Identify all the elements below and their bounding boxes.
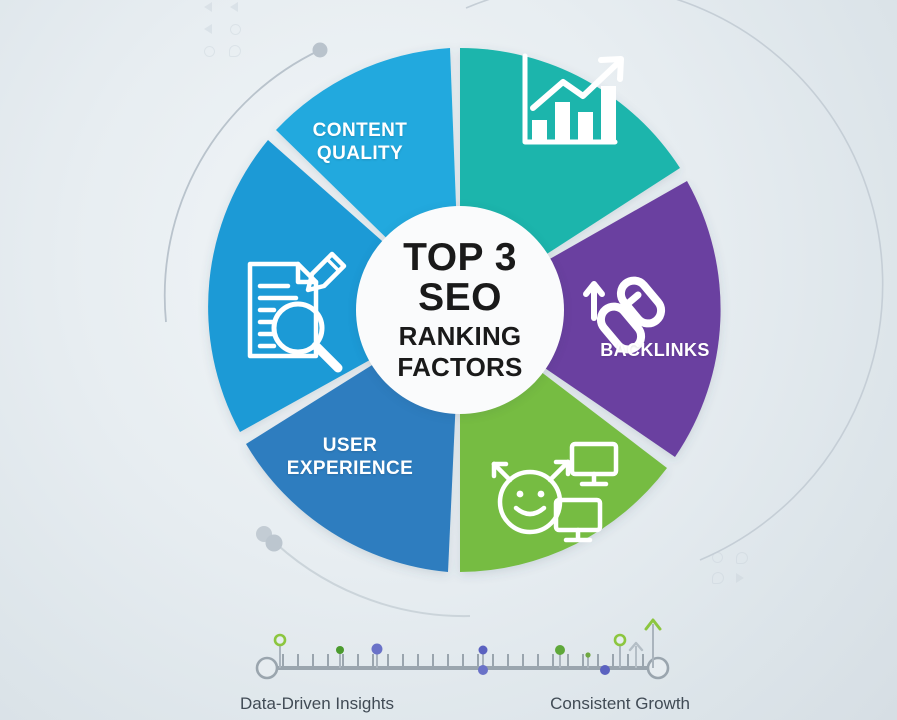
infographic-canvas: TOP 3 SEO RANKING FACTORS CONTENT QUALIT…: [0, 0, 897, 720]
footer-captions: Data-Driven Insights Consistent Growth: [240, 694, 690, 714]
ruler-marker[interactable]: [555, 645, 565, 655]
caption-right: Consistent Growth: [550, 694, 690, 714]
center-hub: TOP 3 SEO RANKING FACTORS: [356, 206, 564, 414]
seo-ranking-donut: TOP 3 SEO RANKING FACTORS CONTENT QUALIT…: [160, 30, 760, 590]
ruler-marker[interactable]: [478, 665, 488, 675]
caption-left: Data-Driven Insights: [240, 694, 394, 714]
hub-line-3: RANKING: [399, 321, 522, 352]
ruler-handle-left[interactable]: [257, 658, 277, 678]
timeline-ruler[interactable]: [255, 612, 670, 682]
ruler-marker[interactable]: [479, 646, 488, 655]
ruler-marker[interactable]: [336, 646, 344, 654]
hub-line-1: TOP 3: [403, 238, 517, 277]
hub-line-4: FACTORS: [397, 352, 522, 383]
ruler-marker[interactable]: [585, 652, 590, 657]
ruler-marker[interactable]: [600, 665, 610, 675]
ruler-marker[interactable]: [615, 635, 625, 645]
ruler-svg[interactable]: [255, 612, 670, 682]
hub-line-2: SEO: [418, 277, 502, 319]
ruler-marker[interactable]: [275, 635, 285, 645]
ruler-marker[interactable]: [372, 644, 383, 655]
ruler-handle-right[interactable]: [648, 658, 668, 678]
